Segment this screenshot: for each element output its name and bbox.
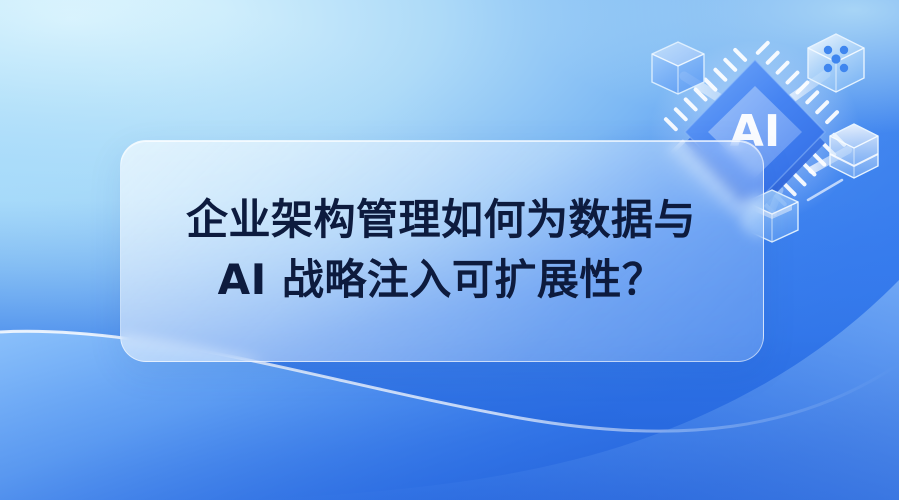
title-line-2: AI 战略注入可扩展性？ <box>218 255 665 305</box>
glass-cylinder-right <box>830 124 878 178</box>
glass-cube-top-left <box>652 42 704 94</box>
poster-canvas: AI <box>0 0 899 500</box>
title-line-1: 企业架构管理如何为数据与 <box>186 195 696 245</box>
page-title: 企业架构管理如何为数据与 AI 战略注入可扩展性？ <box>120 140 762 360</box>
